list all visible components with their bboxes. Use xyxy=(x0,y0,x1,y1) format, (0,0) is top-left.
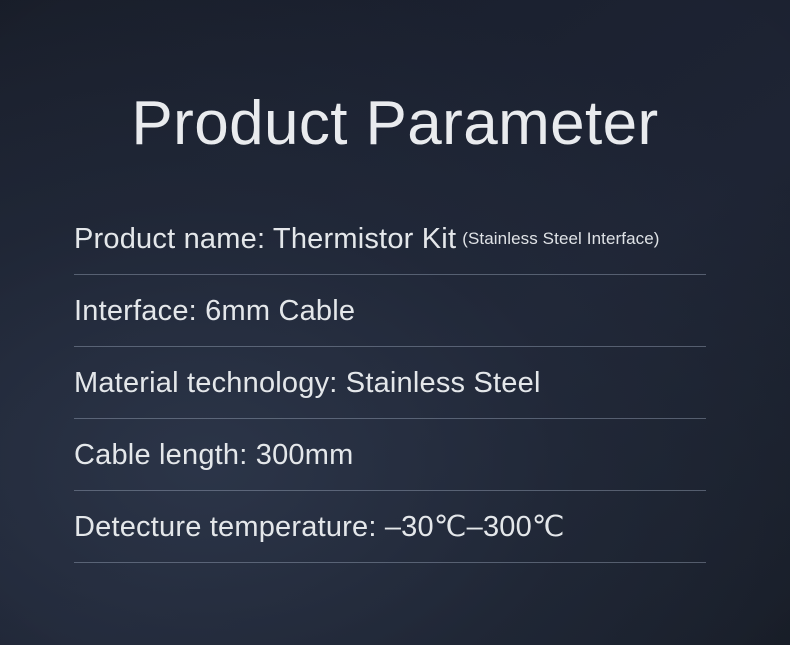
spec-text: Material technology: Stainless Steel xyxy=(74,366,541,400)
spec-text: Product name: Thermistor Kit xyxy=(74,222,456,256)
spec-row-cable-length: Cable length: 300mm xyxy=(74,419,706,491)
spec-note: (Stainless Steel Interface) xyxy=(462,222,659,256)
spec-text: Interface: 6mm Cable xyxy=(74,294,355,328)
spec-row-product-name: Product name: Thermistor Kit (Stainless … xyxy=(74,203,706,275)
spec-row-material-technology: Material technology: Stainless Steel xyxy=(74,347,706,419)
spec-row-detecture-temperature: Detecture temperature: –30℃–300℃ xyxy=(74,491,706,563)
spec-text: Cable length: 300mm xyxy=(74,438,353,472)
specification-list: Product name: Thermistor Kit (Stainless … xyxy=(74,203,706,563)
spec-row-interface: Interface: 6mm Cable xyxy=(74,275,706,347)
spec-text: Detecture temperature: –30℃–300℃ xyxy=(74,510,565,544)
product-parameter-card: Product Parameter Product name: Thermist… xyxy=(0,0,790,645)
page-title: Product Parameter xyxy=(0,88,790,160)
